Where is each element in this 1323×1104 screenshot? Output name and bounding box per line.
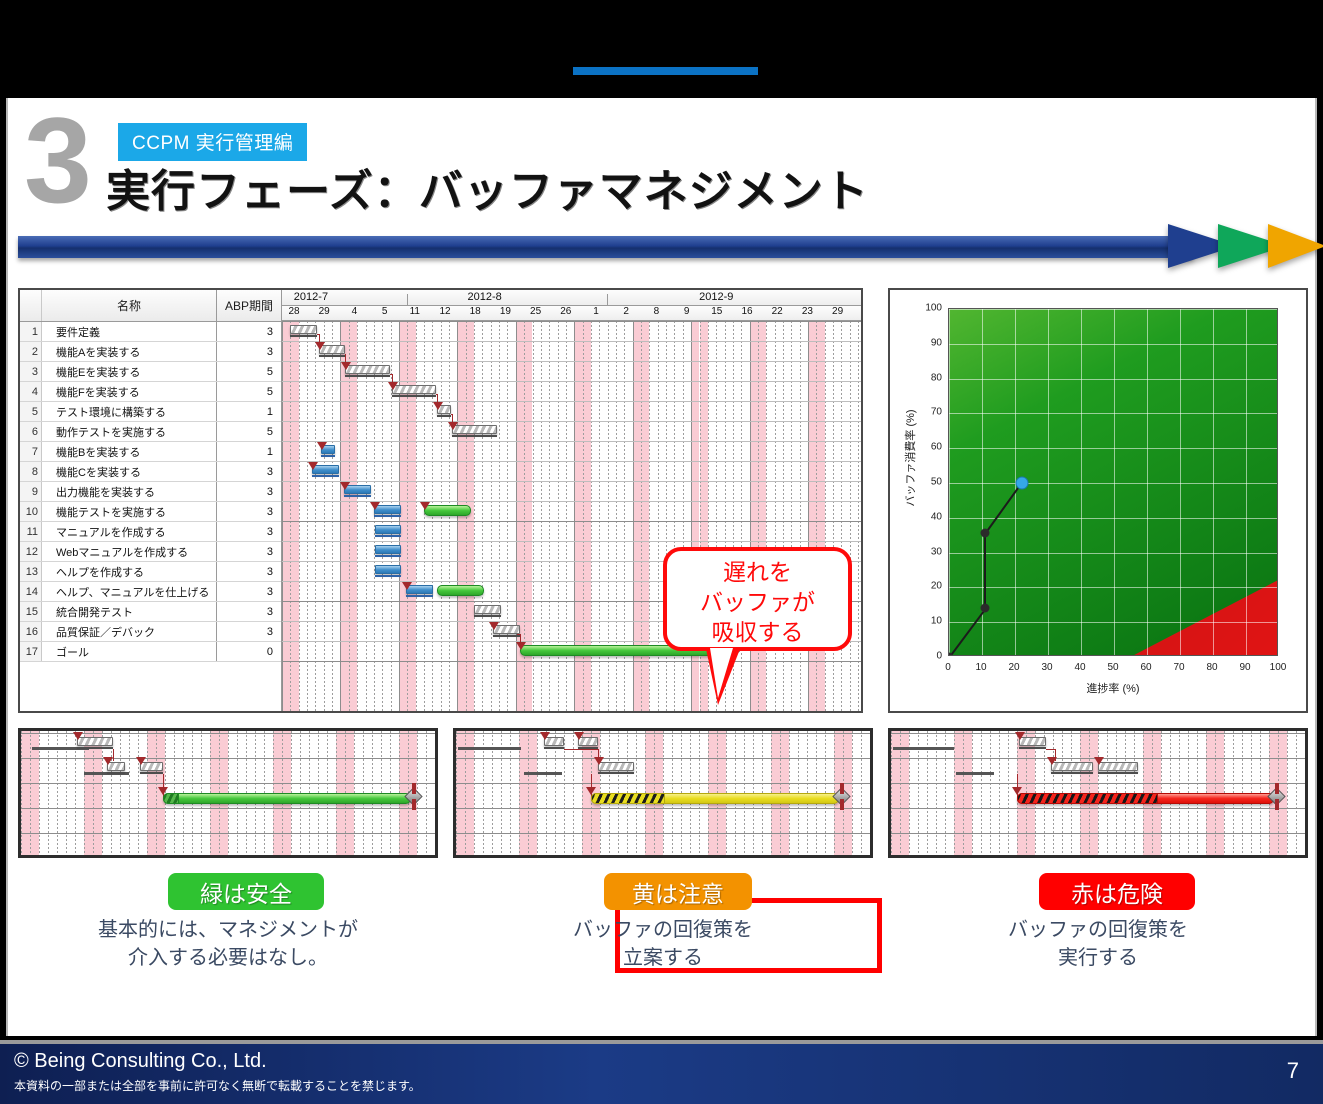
dependency-arrow [402, 582, 412, 590]
footer-bar: © Being Consulting Co., Ltd. 本資料の一部または全部… [0, 1040, 1323, 1104]
fever-plot-area [948, 308, 1278, 656]
table-row[interactable]: 6動作テストを実施する5 [20, 422, 281, 442]
chart-x-tick: 50 [1107, 662, 1118, 673]
dependency-link [452, 414, 453, 423]
grid-line-vertical [791, 321, 792, 711]
chart-x-tick: 30 [1041, 662, 1052, 673]
dependency-arrow [420, 502, 430, 510]
milestone-pin [840, 783, 844, 794]
chart-y-tick: 0 [916, 651, 942, 662]
row-index: 13 [20, 562, 42, 581]
grid-line-vertical [307, 321, 308, 711]
row-abp-duration: 3 [217, 502, 281, 521]
gantt-bar-feeding[interactable] [375, 525, 402, 534]
timeline-day-header: 28294511121819252612891516222329 [282, 306, 861, 321]
grid-line-vertical [833, 321, 834, 711]
chart-y-tick: 40 [916, 511, 942, 522]
chart-y-tick: 90 [916, 337, 942, 348]
dependency-link [1046, 749, 1055, 750]
grid-line-vertical [850, 321, 851, 711]
gantt-bar-critical[interactable] [345, 365, 389, 374]
fever-x-axis-label: 進捗率 (%) [948, 680, 1278, 696]
chart-series-segment [984, 534, 986, 609]
grid-line-vertical [416, 321, 417, 711]
caption-green-line2: 介入する必要はなし。 [18, 944, 438, 972]
table-row[interactable]: 11マニュアルを作成する3 [20, 522, 281, 542]
gantt-table-header: 名称 ABP期間 [20, 290, 281, 322]
fever-chart-panel[interactable]: バッファ消費率 (%) 進捗率 (%) 01020304050607080901… [888, 288, 1308, 713]
row-index: 15 [20, 602, 42, 621]
grid-line-horizontal [282, 401, 861, 402]
chart-y-tick: 50 [916, 477, 942, 488]
chart-data-point [981, 604, 990, 613]
weekend-column [21, 731, 30, 855]
chart-y-tick: 30 [916, 546, 942, 557]
row-abp-duration: 3 [217, 622, 281, 641]
row-task-name: 品質保証／デバック [42, 622, 217, 641]
row-abp-duration: 1 [217, 442, 281, 461]
slide-canvas: 3 CCPM 実行管理編 実行フェーズ：バッファマネジメント 名称 ABP期間 … [6, 98, 1317, 1036]
grid-line-horizontal [456, 758, 870, 759]
row-abp-duration: 1 [217, 402, 281, 421]
dependency-arrow [489, 622, 499, 630]
dependency-arrow [540, 732, 550, 740]
table-row[interactable]: 5テスト環境に構築する1 [20, 402, 281, 422]
grid-line-horizontal [282, 461, 861, 462]
gantt-bar-critical[interactable] [474, 605, 501, 614]
chart-gridline-vertical [1180, 309, 1181, 655]
grid-line-horizontal [282, 361, 861, 362]
dependency-arrow [574, 732, 584, 740]
grid-line-horizontal [21, 783, 435, 784]
grid-line-horizontal [282, 661, 861, 662]
row-task-name: 機能テストを実施する [42, 502, 217, 521]
dependency-arrow [340, 482, 350, 490]
grid-line-vertical [750, 321, 751, 711]
grid-line-vertical [499, 321, 500, 711]
chart-x-tick: 40 [1074, 662, 1085, 673]
chevron-gold-icon [1268, 224, 1323, 268]
table-row[interactable]: 13ヘルプを作成する3 [20, 562, 281, 582]
row-abp-duration: 3 [217, 562, 281, 581]
gantt-bar-feeding[interactable] [375, 545, 402, 554]
dependency-arrow [1094, 757, 1104, 765]
timeline-month-label: 2012-8 [468, 291, 502, 303]
dependency-link [319, 334, 320, 343]
timeline-day-label: 2 [623, 306, 629, 317]
chart-gridline-vertical [1147, 309, 1148, 655]
row-index: 2 [20, 342, 42, 361]
gantt-bar-feeding-buffer[interactable] [437, 585, 484, 596]
grid-line-vertical [466, 321, 467, 711]
grid-line-vertical [972, 731, 973, 855]
grid-line-vertical [21, 731, 22, 855]
chart-gridline-vertical [949, 309, 950, 655]
grid-line-vertical [858, 321, 859, 711]
gantt-bar-feeding-buffer[interactable] [424, 505, 471, 516]
timeline-day-label: 22 [772, 306, 783, 317]
grid-line-vertical [800, 321, 801, 711]
grid-line-vertical [808, 321, 809, 711]
chart-gridline-vertical [1213, 309, 1214, 655]
weekend-column [750, 321, 758, 711]
grid-line-horizontal [282, 381, 861, 382]
grid-line-vertical [120, 731, 121, 855]
timeline-month-label: 2012-7 [294, 291, 328, 303]
milestone-pin [412, 799, 416, 810]
month-separator [607, 294, 608, 306]
grid-line-vertical [156, 731, 157, 855]
grid-line-vertical [507, 321, 508, 711]
dependency-arrow [433, 402, 443, 410]
grid-line-vertical [147, 731, 148, 855]
milestone-pin [840, 799, 844, 810]
dependency-arrow [158, 787, 168, 795]
month-separator [407, 294, 408, 306]
dependency-link [564, 749, 598, 750]
grid-line-vertical [852, 731, 853, 855]
row-index: 9 [20, 482, 42, 501]
grid-line-vertical [816, 321, 817, 711]
caption-yellow-line1: バッファの回復策を [453, 916, 873, 944]
gantt-bar-project-buffer[interactable] [163, 793, 411, 804]
grid-line-horizontal [282, 481, 861, 482]
timeline-day-label: 4 [352, 306, 358, 317]
row-task-name: 要件定義 [42, 322, 217, 341]
grid-line-vertical [290, 321, 291, 711]
chart-x-tick: 10 [975, 662, 986, 673]
chart-x-tick: 70 [1173, 662, 1184, 673]
chart-x-tick: 0 [945, 662, 951, 673]
grid-line-vertical [482, 321, 483, 711]
dependency-arrow [586, 787, 596, 795]
grid-line-vertical [516, 321, 517, 711]
dependency-link [345, 354, 346, 363]
weekend-column [963, 731, 972, 855]
row-index: 17 [20, 642, 42, 661]
page-number: 7 [1287, 1058, 1299, 1084]
grid-line-vertical [783, 321, 784, 711]
table-row[interactable]: 3機能Eを実装する5 [20, 362, 281, 382]
gantt-bar-baseline [458, 747, 521, 750]
grid-line-vertical [766, 321, 767, 711]
weekend-column [147, 731, 156, 855]
row-index: 12 [20, 542, 42, 561]
grid-line-vertical [1287, 731, 1288, 855]
weekend-column [758, 321, 766, 711]
dependency-arrow [1012, 787, 1022, 795]
grid-line-horizontal [282, 441, 861, 442]
chart-gridline-vertical [1048, 309, 1049, 655]
footer-copyright: © Being Consulting Co., Ltd. [14, 1050, 267, 1073]
page-title: 実行フェーズ：バッファマネジメント [106, 155, 869, 219]
grid-line-vertical [340, 321, 341, 711]
timeline-day-label: 5 [382, 306, 388, 317]
chart-gridline-horizontal [949, 518, 1277, 519]
dependency-arrow [308, 462, 318, 470]
row-abp-duration: 3 [217, 602, 281, 621]
row-abp-duration: 3 [217, 522, 281, 541]
grid-line-vertical [758, 321, 759, 711]
mini-gantt-green [18, 728, 438, 858]
table-row[interactable]: 9出力機能を実装する3 [20, 482, 281, 502]
gantt-bar-baseline [956, 772, 994, 775]
grid-line-horizontal [456, 733, 870, 734]
grid-line-vertical [424, 321, 425, 711]
gantt-task-table[interactable]: 名称 ABP期間 1要件定義32機能Aを実装する33機能Eを実装する54機能Fを… [20, 290, 282, 711]
row-index: 4 [20, 382, 42, 401]
fever-chart: バッファ消費率 (%) 進捗率 (%) 01020304050607080901… [890, 290, 1306, 711]
chart-gridline-horizontal [949, 553, 1277, 554]
timeline-day-label: 9 [684, 306, 690, 317]
dependency-arrow [370, 502, 380, 510]
grid-line-vertical [441, 321, 442, 711]
slide-number-watermark: 3 [24, 106, 92, 214]
row-index: 11 [20, 522, 42, 541]
arrow-banner [18, 224, 1308, 268]
timeline-day-label: 29 [832, 306, 843, 317]
dependency-arrow [594, 757, 604, 765]
weekend-column [808, 321, 816, 711]
grid-line-horizontal [21, 833, 435, 834]
grid-line-vertical [491, 321, 492, 711]
gantt-bar-buffer-consumed [1017, 793, 1158, 804]
chart-gridline-horizontal [949, 622, 1277, 623]
gantt-bar-critical[interactable] [452, 425, 496, 434]
dependency-arrow [341, 362, 351, 370]
arrow-shaft [18, 236, 1193, 258]
table-row[interactable]: 2機能Aを実装する3 [20, 342, 281, 362]
chart-gridline-horizontal [949, 413, 1277, 414]
row-task-name: 機能Aを実装する [42, 342, 217, 361]
chart-gridline-horizontal [949, 483, 1277, 484]
weekend-column [349, 321, 357, 711]
row-index: 1 [20, 322, 42, 341]
dependency-arrow [516, 642, 526, 650]
weekend-column [816, 321, 824, 711]
col-name: 名称 [42, 290, 217, 321]
chart-x-tick: 20 [1008, 662, 1019, 673]
dependency-arrow [315, 342, 325, 350]
chart-gridline-horizontal [949, 379, 1277, 380]
grid-line-vertical [1008, 731, 1009, 855]
grid-line-vertical [990, 731, 991, 855]
row-abp-duration: 3 [217, 482, 281, 501]
timeline-month-label: 2012-9 [699, 291, 733, 303]
grid-line-horizontal [891, 733, 1305, 734]
timeline-day-label: 1 [593, 306, 599, 317]
dependency-link [437, 394, 438, 403]
row-abp-duration: 3 [217, 342, 281, 361]
table-row[interactable]: 16品質保証／デバック3 [20, 622, 281, 642]
status-badge-yellow: 黄は注意 [604, 873, 752, 910]
table-row[interactable]: 7機能Bを実装する1 [20, 442, 281, 462]
gantt-bar-critical[interactable] [392, 385, 436, 394]
chart-y-tick: 60 [916, 442, 942, 453]
table-row[interactable]: 10機能テストを実施する3 [20, 502, 281, 522]
grid-line-vertical [407, 321, 408, 711]
row-task-name: Webマニュアルを作成する [42, 542, 217, 561]
mini-gantt-red-grid [891, 731, 1305, 855]
caption-red-line1: バッファの回復策を [888, 916, 1308, 944]
weekend-column [407, 321, 415, 711]
grid-line-horizontal [456, 833, 870, 834]
table-row[interactable]: 17ゴール0 [20, 642, 281, 662]
dependency-arrow [448, 422, 458, 430]
dependency-link [598, 749, 599, 761]
col-abp: ABP期間 [217, 290, 281, 321]
timeline-day-label: 29 [319, 306, 330, 317]
timeline-day-label: 23 [802, 306, 813, 317]
row-task-name: 機能Fを実装する [42, 382, 217, 401]
milestone-pin [412, 783, 416, 794]
grid-line-vertical [999, 731, 1000, 855]
caption-green-line1: 基本的には、マネジメントが [18, 916, 438, 944]
callout-line-3: 吸収する [667, 617, 848, 647]
dependency-arrow [388, 382, 398, 390]
row-index: 16 [20, 622, 42, 641]
grid-line-vertical [426, 731, 427, 855]
weekend-column [457, 321, 465, 711]
grid-line-horizontal [282, 541, 861, 542]
grid-line-vertical [555, 731, 556, 855]
row-index: 6 [20, 422, 42, 441]
grid-line-vertical [432, 321, 433, 711]
chart-y-tick: 70 [916, 407, 942, 418]
dependency-arrow [73, 732, 83, 740]
chart-gridline-horizontal [949, 344, 1277, 345]
chart-y-tick: 10 [916, 616, 942, 627]
row-index: 3 [20, 362, 42, 381]
grid-line-horizontal [891, 808, 1305, 809]
weekend-column [340, 321, 348, 711]
grid-line-vertical [93, 731, 94, 855]
grid-line-vertical [282, 321, 283, 711]
table-row[interactable]: 12Webマニュアルを作成する3 [20, 542, 281, 562]
grid-line-vertical [546, 731, 547, 855]
callout-line-2: バッファが [667, 587, 848, 617]
mini-gantt-yellow [453, 728, 873, 858]
caption-green: 基本的には、マネジメントが 介入する必要はなし。 [18, 916, 438, 972]
dependency-link [392, 374, 393, 383]
row-task-name: 機能Eを実装する [42, 362, 217, 381]
chart-gridline-vertical [1081, 309, 1082, 655]
timeline-day-label: 16 [741, 306, 752, 317]
weekend-column [282, 321, 290, 711]
timeline-day-label: 15 [711, 306, 722, 317]
grid-line-vertical [349, 321, 350, 711]
weekend-column [954, 731, 963, 855]
gantt-bar-feeding[interactable] [375, 565, 402, 574]
table-row[interactable]: 15統合開発テスト3 [20, 602, 281, 622]
grid-line-vertical [299, 321, 300, 711]
timeline-day-label: 11 [410, 306, 420, 317]
grid-line-vertical [861, 731, 862, 855]
dependency-link [1055, 749, 1056, 761]
row-task-name: 出力機能を実装する [42, 482, 217, 501]
callout-line-1: 遅れを [667, 557, 848, 587]
weekend-column [290, 321, 298, 711]
mini-gantt-red [888, 728, 1308, 858]
timeline-day-label: 18 [470, 306, 481, 317]
gantt-bar-critical[interactable] [1051, 762, 1092, 771]
grid-line-vertical [741, 321, 742, 711]
grid-line-vertical [841, 321, 842, 711]
row-index: 14 [20, 582, 42, 601]
timeline-grid [282, 321, 861, 711]
timeline-day-label: 19 [500, 306, 511, 317]
top-black-bar [0, 0, 1323, 98]
grid-line-vertical [474, 321, 475, 711]
chart-data-point [981, 529, 990, 538]
grid-line-vertical [366, 321, 367, 711]
timeline-day-label: 28 [288, 306, 299, 317]
grid-line-vertical [129, 731, 130, 855]
grid-line-vertical [954, 731, 955, 855]
row-index: 5 [20, 402, 42, 421]
grid-line-horizontal [891, 783, 1305, 784]
gantt-bar-baseline [893, 747, 954, 750]
milestone-pin [1275, 799, 1279, 810]
timeline-day-label: 25 [530, 306, 541, 317]
grid-line-vertical [357, 321, 358, 711]
gantt-row-container: 1要件定義32機能Aを実装する33機能Eを実装する54機能Fを実装する55テスト… [20, 322, 281, 662]
grid-line-horizontal [891, 833, 1305, 834]
caption-red-line2: 実行する [888, 944, 1308, 972]
row-task-name: 動作テストを実施する [42, 422, 217, 441]
table-row[interactable]: 8機能Cを実装する3 [20, 462, 281, 482]
caption-yellow: バッファの回復策を 立案する [453, 916, 873, 972]
grid-line-vertical [1296, 731, 1297, 855]
chart-y-tick: 80 [916, 372, 942, 383]
callout-bubble: 遅れを バッファが 吸収する [663, 547, 852, 651]
chart-gridline-vertical [1114, 309, 1115, 655]
table-row[interactable]: 1要件定義3 [20, 322, 281, 342]
row-task-name: テスト環境に構築する [42, 402, 217, 421]
grid-line-vertical [332, 321, 333, 711]
grid-line-horizontal [282, 521, 861, 522]
milestone-pin [1275, 783, 1279, 794]
grid-line-vertical [775, 321, 776, 711]
chart-current-point [1015, 477, 1028, 490]
row-task-name: マニュアルを作成する [42, 522, 217, 541]
status-badge-red: 赤は危険 [1039, 873, 1195, 910]
row-abp-duration: 3 [217, 322, 281, 341]
dependency-link [113, 749, 114, 761]
chart-gridline-vertical [1246, 309, 1247, 655]
mini-gantt-green-grid [21, 731, 435, 855]
grid-line-horizontal [282, 341, 861, 342]
grid-line-vertical [457, 321, 458, 711]
row-abp-duration: 3 [217, 542, 281, 561]
timeline-day-label: 26 [560, 306, 571, 317]
gantt-bar-critical[interactable] [290, 325, 317, 334]
table-row[interactable]: 4機能Fを実装する5 [20, 382, 281, 402]
weekend-column [93, 731, 102, 855]
table-row[interactable]: 14ヘルプ、マニュアルを仕上げる3 [20, 582, 281, 602]
chart-x-tick: 80 [1206, 662, 1217, 673]
footer-notice: 本資料の一部または全部を事前に許可なく無断で転載することを禁じます。 [14, 1077, 421, 1094]
grid-line-vertical [324, 321, 325, 711]
row-task-name: 機能Cを実装する [42, 462, 217, 481]
row-task-name: ゴール [42, 642, 217, 661]
grid-line-horizontal [456, 808, 870, 809]
status-badge-green: 緑は安全 [168, 873, 324, 910]
row-task-name: 統合開発テスト [42, 602, 217, 621]
gantt-bar-buffer-consumed [591, 793, 665, 804]
row-abp-duration: 5 [217, 382, 281, 401]
chart-x-tick: 90 [1239, 662, 1250, 673]
